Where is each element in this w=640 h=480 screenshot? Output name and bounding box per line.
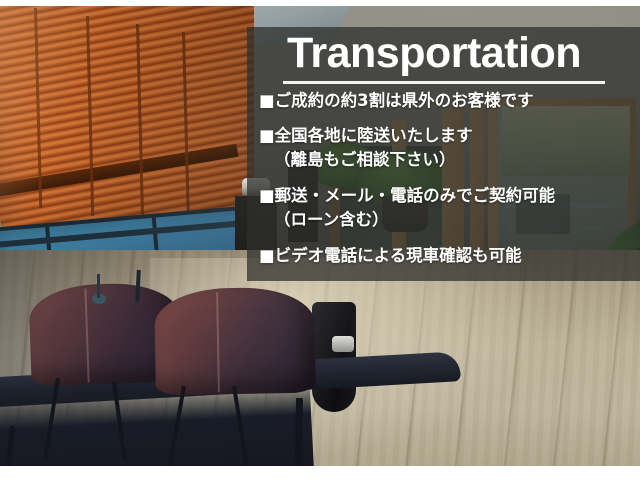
bullet-text-4: ビデオ電話による現車確認も可能 [275,246,522,265]
venetian-blinds [0,6,254,242]
bullet-item-2: ■全国各地に陸送いたします [259,124,640,147]
table-leg-2 [294,398,303,466]
leather-chair-right [154,287,316,396]
banner-image: Transportation ■ご成約の約3割は県外のお客様です ■全国各地に陸… [0,0,640,480]
bullet-marker-2: ■ [259,126,275,145]
bullet-item-1: ■ご成約の約3割は県外のお客様です [259,89,640,112]
bullet-marker-1: ■ [259,91,275,110]
bullet-marker-4: ■ [259,246,275,265]
bullet-list: ■ご成約の約3割は県外のお客様です ■全国各地に陸送いたします （離島もご相談下… [259,89,640,267]
bullet-subtext-3: （ローン含む） [259,208,640,231]
bullet-text-2: 全国各地に陸送いたします [275,126,473,145]
chair-seam-left [84,289,89,383]
bullet-item-3: ■郵送・メール・電話のみでご契約可能 [259,184,640,207]
text-overlay-panel: Transportation ■ご成約の約3割は県外のお客様です ■全国各地に陸… [247,27,640,281]
chair-seam-right [216,292,220,392]
bullet-text-3: 郵送・メール・電話のみでご契約可能 [275,186,556,205]
table-object-stem [97,274,100,298]
title-divider [283,81,605,84]
blind-shading [0,6,254,242]
pedestal-model-car [332,336,354,352]
bullet-item-4: ■ビデオ電話による現車確認も可能 [259,244,640,267]
bullet-marker-3: ■ [259,186,275,205]
bullet-text-1: ご成約の約3割は県外のお客様です [275,91,534,110]
bullet-subtext-2: （離島もご相談下さい） [259,148,640,171]
page-title: Transportation [287,26,617,80]
